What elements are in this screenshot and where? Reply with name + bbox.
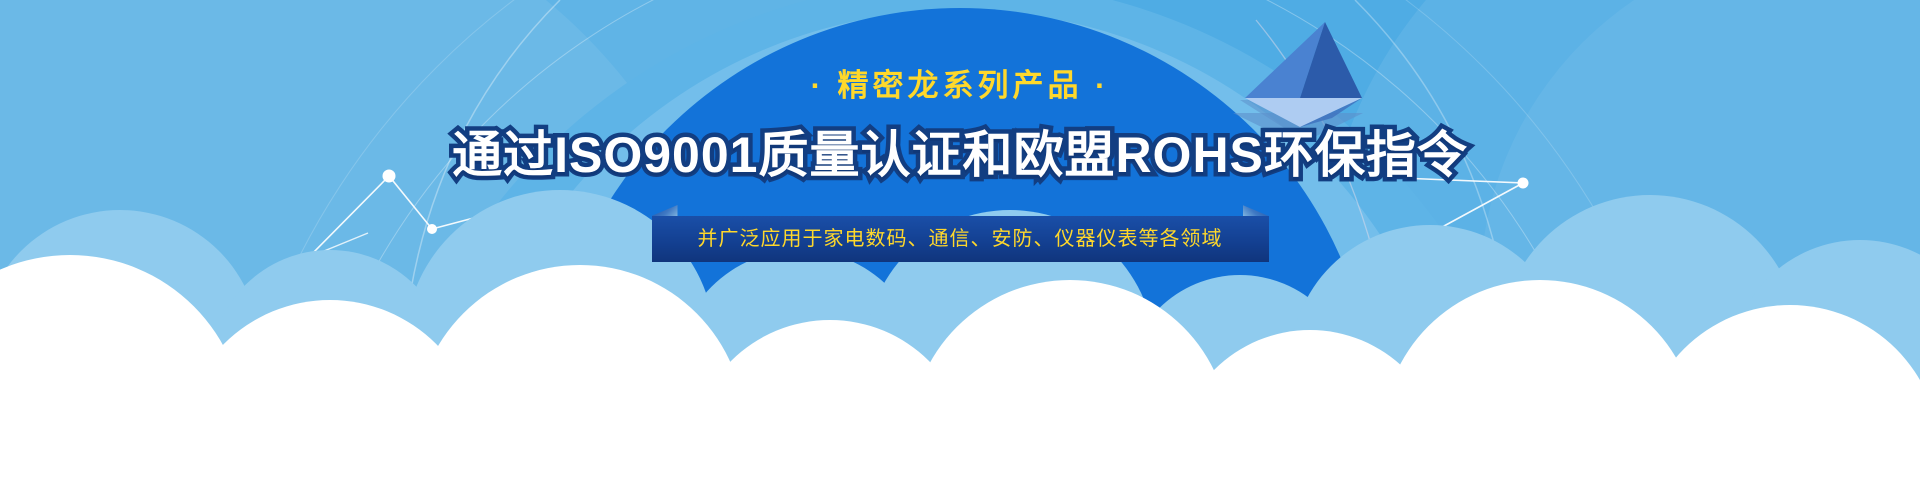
banner-subtitle: · 精密龙系列产品 ·: [811, 70, 1110, 101]
caption-ribbon: 并广泛应用于家电数码、通信、安防、仪器仪表等各领域: [652, 216, 1269, 262]
banner-content: · 精密龙系列产品 · 通过ISO9001质量认证和欧盟ROHS环保指令 并广泛…: [0, 0, 1920, 480]
promo-banner: · 精密龙系列产品 · 通过ISO9001质量认证和欧盟ROHS环保指令 并广泛…: [0, 0, 1920, 480]
banner-headline: 通过ISO9001质量认证和欧盟ROHS环保指令: [452, 130, 1468, 180]
ribbon-tail-left: [652, 205, 678, 216]
ribbon-tail-right: [1243, 205, 1269, 216]
ribbon-body: 并广泛应用于家电数码、通信、安防、仪器仪表等各领域: [652, 216, 1269, 262]
banner-caption: 并广泛应用于家电数码、通信、安防、仪器仪表等各领域: [698, 229, 1223, 249]
